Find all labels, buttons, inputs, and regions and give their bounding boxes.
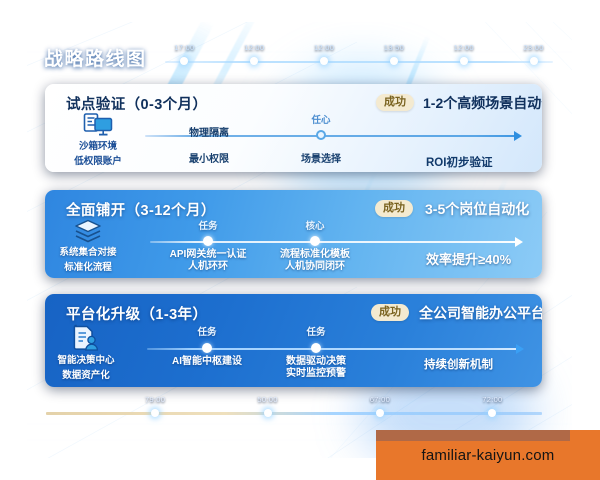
phase-1-outcome: ROI初步验证 [426,154,492,170]
phase-3-title: 平台化升级（1-3年） [66,303,207,324]
timeline-bottom: 79:0050:0067:0072:00 [46,396,542,422]
timeline-bottom-line [46,412,542,415]
phase-1-title: 试点验证（0-3个月） [66,93,207,114]
phase-3-status-badge: 成功 [371,304,409,321]
phase-2-node-1-dot[interactable] [203,236,213,246]
phase-3-arrow-head [516,344,524,354]
phase-card-1[interactable]: 试点验证（0-3个月） 成功 1-2个高频场景自动化 沙箱环境 低权限账户 物理… [45,84,542,172]
timeline-bottom-tick-2-dot[interactable] [264,409,272,417]
phase-2-icon-block: 系统集合对接 标准化流程 [57,218,119,273]
phase-2-outcome: 效率提升≥40% [426,249,511,268]
phase-2-icon-label-2: 标准化流程 [57,262,119,274]
phase-3-node-2-caption-2: 实时监控预警 [286,368,346,380]
document-monitor-icon [83,112,113,138]
phase-3-icon-label-2: 数据资产化 [55,370,117,382]
phase-2-node-2-tag: 核心 [305,218,324,232]
phase-2-status-badge: 成功 [375,200,413,217]
phase-3-node-2-caption-1: 数据驱动决策 [286,356,346,368]
timeline-top-tick-4-dot[interactable] [390,57,398,65]
phase-3-icon-label-1: 智能决策中心 [55,355,117,367]
timeline-top-line [165,61,553,63]
watermark-text: familiar-kaiyun.com [422,447,555,464]
phase-1-icon-label-2: 低权限账户 [67,156,129,168]
phase-card-3[interactable]: 平台化升级（1-3年） 成功 全公司智能办公平台 智能决策中心 数据资产化 任务… [45,294,542,387]
timeline-bottom-tick-1-label: 79:00 [145,395,165,404]
phase-1-node-2-caption-2: 场景选择 [301,154,341,166]
timeline-bottom-tick-4-label: 72:00 [482,395,502,404]
timeline-top-tick-6-dot[interactable] [530,57,538,65]
phase-2-goal: 3-5个岗位自动化 [425,199,529,219]
timeline-top-tick-3-dot[interactable] [320,57,328,65]
phase-card-2[interactable]: 全面铺开（3-12个月） 成功 3-5个岗位自动化 系统集合对接 标准化流程 任… [45,190,542,278]
timeline-top-tick-4-label: 13:50 [384,43,404,52]
timeline-top-tick-1-dot[interactable] [180,57,188,65]
watermark-banner: familiar-kaiyun.com [376,430,600,480]
timeline-top-tick-2-label: 12:00 [244,43,264,52]
phase-3-node-2-tag: 任务 [306,324,325,338]
phase-1-node-1-caption-2: 最小权限 [189,154,229,166]
phase-3-icon-block: 智能决策中心 数据资产化 [55,324,117,381]
timeline-top-tick-3-label: 12:00 [314,43,334,52]
phase-3-node-1-tag: 任务 [197,324,216,338]
phase-1-goal: 1-2个高频场景自动化 [423,93,542,113]
phase-2-arrow-head [515,237,523,247]
phase-3-node-1-caption-1: AI智能中枢建设 [172,356,242,368]
timeline-top-tick-1-label: 17:00 [174,43,194,52]
layered-stack-icon [73,218,103,244]
phase-3-node-2-dot[interactable] [311,343,321,353]
timeline-bottom-tick-2-label: 50:00 [257,395,277,404]
phase-1-node-1-caption-1: 物理隔离 [189,128,229,140]
timeline-bottom-tick-1-dot[interactable] [151,409,159,417]
phase-3-node-1-dot[interactable] [202,343,212,353]
timeline-top: 17:0012:0012:0013:5012:0023:00 [165,44,553,70]
timeline-bottom-tick-4-dot[interactable] [488,409,496,417]
phase-1-node-2-dot[interactable] [316,130,326,140]
phase-1-icon-block: 沙箱环境 低权限账户 [67,112,129,167]
phase-2-node-1-caption-2: 人机环环 [188,261,228,273]
phase-2-node-1-caption-1: API网关统一认证 [170,249,247,261]
phase-2-node-1-tag: 任务 [198,218,217,232]
phase-2-icon-label-1: 系统集合对接 [57,247,119,259]
timeline-top-tick-5-label: 12:00 [454,43,474,52]
timeline-top-tick-2-dot[interactable] [250,57,258,65]
document-person-icon [72,324,100,352]
phase-3-goal: 全公司智能办公平台 [419,303,542,323]
phase-2-title: 全面铺开（3-12个月） [66,199,216,220]
phase-1-arrow-head [514,131,522,141]
timeline-bottom-tick-3-dot[interactable] [376,409,384,417]
timeline-top-tick-5-dot[interactable] [460,57,468,65]
screenshot-root: 战略路线图 17:0012:0012:0013:5012:0023:00 试点验… [0,0,600,480]
phase-2-node-2-caption-1: 流程标准化模板 [280,249,350,261]
phase-2-node-2-caption-2: 人机协同闭环 [285,261,345,273]
phase-1-node-2-tag: 任心 [311,112,330,126]
phase-2-node-2-dot[interactable] [310,236,320,246]
timeline-top-tick-6-label: 23:00 [523,43,543,52]
page-title: 战略路线图 [44,44,147,71]
watermark-bar [376,430,570,441]
phase-1-status-badge: 成功 [376,94,414,111]
timeline-bottom-tick-3-label: 67:00 [370,395,390,404]
phase-3-outcome: 持续创新机制 [424,356,493,372]
phase-1-icon-label-1: 沙箱环境 [67,141,129,153]
